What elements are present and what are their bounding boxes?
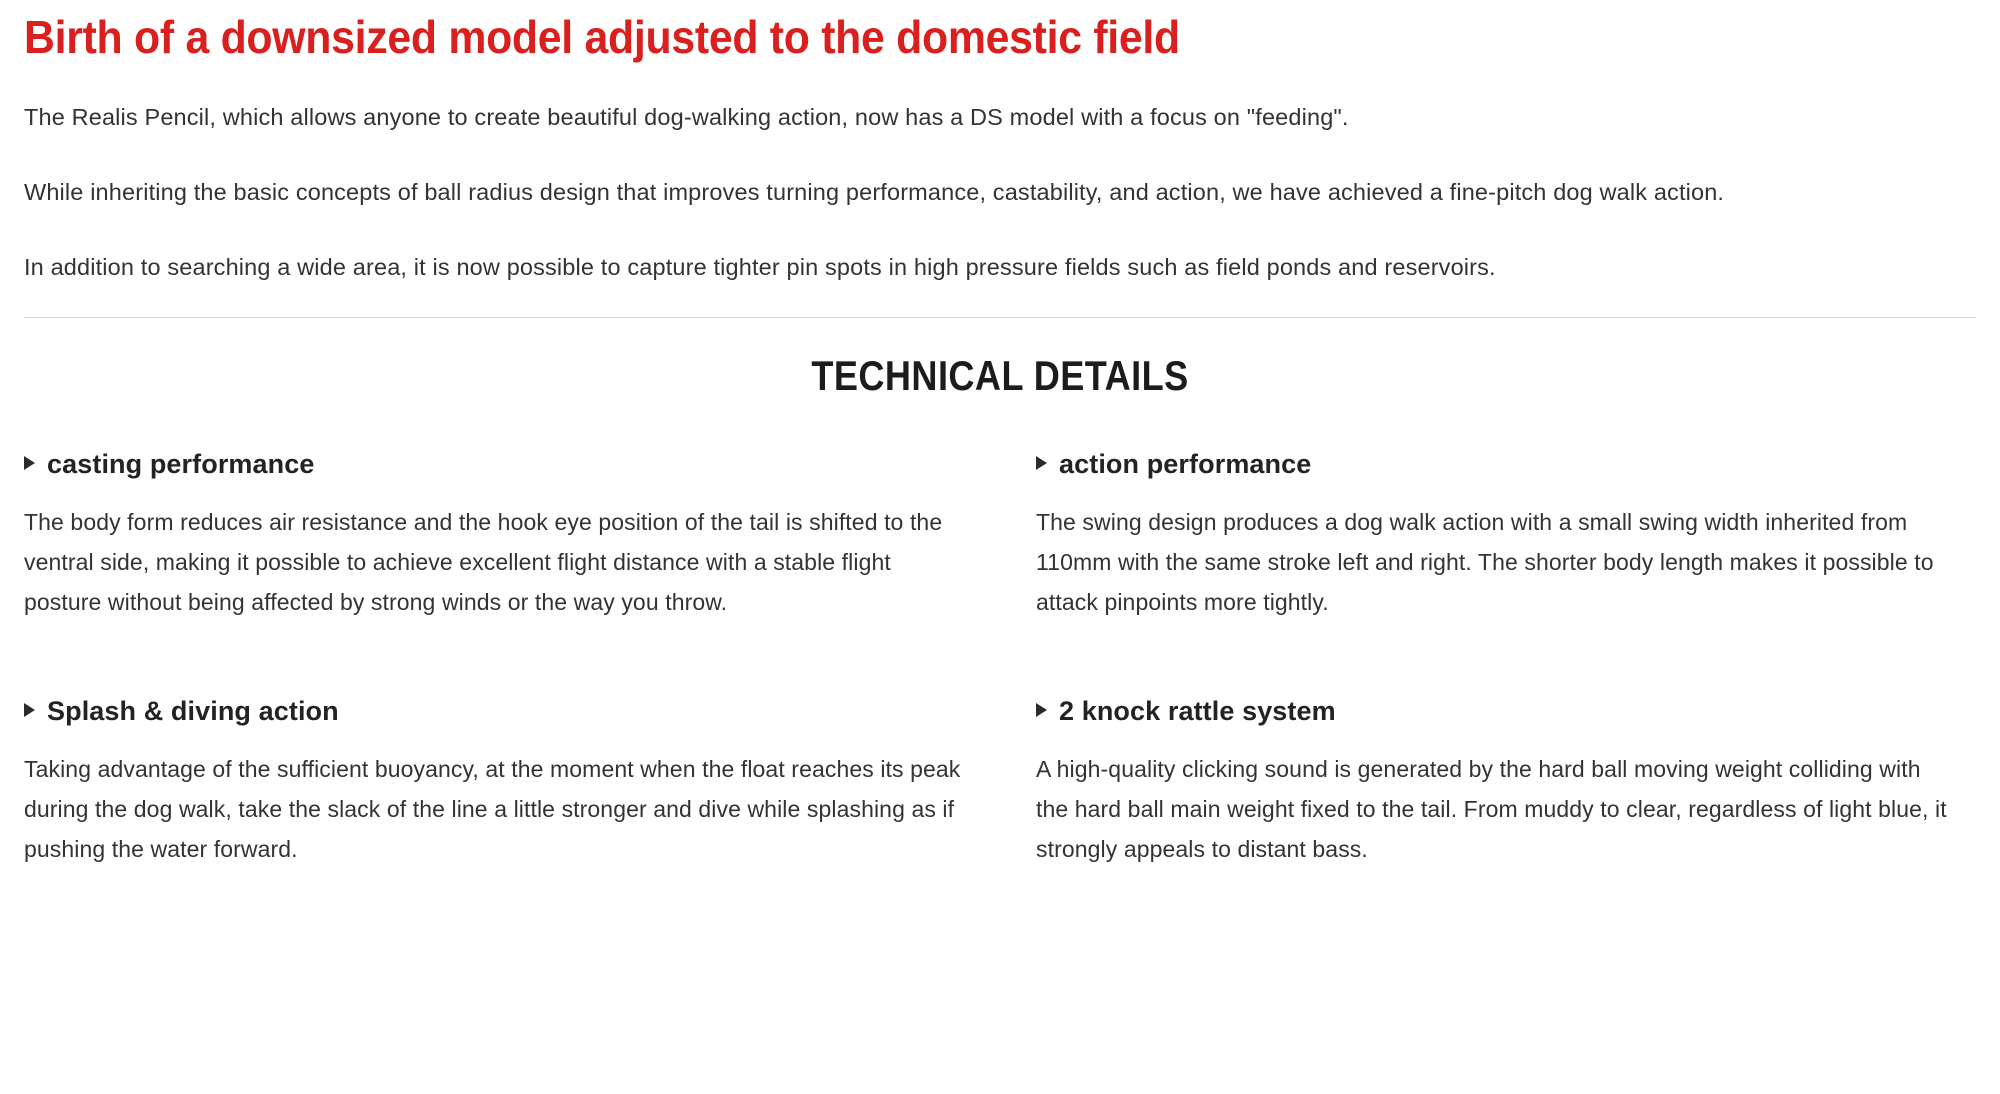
detail-title: action performance bbox=[1059, 448, 1311, 480]
detail-item-casting-performance: casting performance The body form reduce… bbox=[24, 448, 1030, 622]
triangle-right-icon bbox=[1036, 456, 1047, 470]
detail-body: The swing design produces a dog walk act… bbox=[1036, 502, 1956, 622]
detail-title: casting performance bbox=[47, 448, 314, 480]
detail-header: Splash & diving action bbox=[24, 695, 990, 727]
detail-body: A high-quality clicking sound is generat… bbox=[1036, 749, 1956, 869]
detail-title: Splash & diving action bbox=[47, 695, 339, 727]
triangle-right-icon bbox=[24, 456, 35, 470]
detail-header: action performance bbox=[1036, 448, 1956, 480]
intro-paragraph-3: In addition to searching a wide area, it… bbox=[24, 246, 1974, 289]
detail-item-action-performance: action performance The swing design prod… bbox=[1030, 448, 1976, 622]
detail-item-splash-diving-action: Splash & diving action Taking advantage … bbox=[24, 622, 1030, 869]
product-description-page: Birth of a downsized model adjusted to t… bbox=[0, 0, 2000, 1094]
intro-section: The Realis Pencil, which allows anyone t… bbox=[24, 96, 1976, 289]
detail-header: 2 knock rattle system bbox=[1036, 695, 1956, 727]
triangle-right-icon bbox=[1036, 703, 1047, 717]
intro-paragraph-1: The Realis Pencil, which allows anyone t… bbox=[24, 96, 1974, 139]
technical-details-grid: casting performance The body form reduce… bbox=[24, 448, 1976, 869]
detail-item-2-knock-rattle-system: 2 knock rattle system A high-quality cli… bbox=[1030, 622, 1976, 869]
detail-header: casting performance bbox=[24, 448, 990, 480]
page-title: Birth of a downsized model adjusted to t… bbox=[24, 0, 1839, 66]
detail-body: The body form reduces air resistance and… bbox=[24, 502, 964, 622]
triangle-right-icon bbox=[24, 703, 35, 717]
detail-title: 2 knock rattle system bbox=[1059, 695, 1336, 727]
detail-body: Taking advantage of the sufficient buoya… bbox=[24, 749, 964, 869]
section-heading-technical-details: TECHNICAL DETAILS bbox=[161, 318, 1840, 400]
intro-paragraph-2: While inheriting the basic concepts of b… bbox=[24, 171, 1974, 214]
